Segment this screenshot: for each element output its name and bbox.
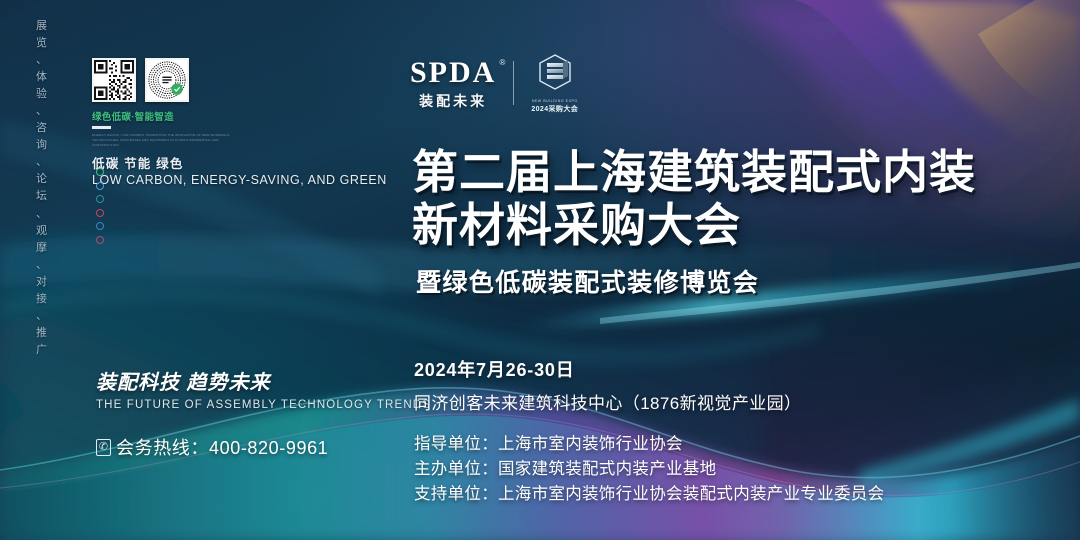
logo-bar: SPDA ® 装配未来 NEW BU [410, 52, 578, 114]
dot-red [96, 209, 104, 217]
qr-code-left[interactable] [92, 58, 136, 102]
slogan-english: THE FUTURE OF ASSEMBLY TECHNOLOGY TRENDS [96, 399, 431, 411]
organizers-block: 指导单位：上海市室内装饰行业协会主办单位：国家建筑装配式内装产业基地支持单位：上… [414, 432, 884, 507]
nbe-logo: NEW BUILDING EXPO 2024采购大会 [531, 52, 578, 114]
nbe-cube-icon [535, 52, 575, 92]
qr-code-right[interactable] [145, 58, 189, 102]
vertical-rail-char-2: 、 [36, 52, 48, 69]
qr-code-row [92, 58, 387, 102]
logo-divider [513, 61, 514, 105]
vertical-rail-char-13: 摩 [36, 240, 48, 257]
vertical-keywords-rail: 展览、体验、咨询、论坛、观摩、对接、推广 [30, 18, 54, 268]
dot-teal [96, 195, 104, 203]
vertical-rail-char-12: 观 [36, 223, 48, 240]
micro-description-text: ENERGY-SAVING, LOW-CARBON, PROMOTING THE… [92, 133, 242, 148]
vertical-rail-char-18: 推 [36, 325, 48, 342]
vertical-rail-char-7: 询 [36, 137, 48, 154]
organizer-line-1: 指导单位：上海市室内装饰行业协会 [414, 432, 884, 457]
vertical-rail-char-5: 、 [36, 103, 48, 120]
phone-icon: ✆ [96, 439, 111, 456]
dot-cyan [96, 222, 104, 230]
organizer-line-3: 支持单位：上海市室内装饰行业协会装配式内装产业专业委员会 [414, 482, 884, 507]
qr-info-block: 绿色低碳·智能智造 ENERGY-SAVING, LOW-CARBON, PRO… [92, 58, 387, 187]
hotline-text: 会务热线：400-820-9961 [116, 434, 328, 460]
vertical-rail-char-4: 验 [36, 86, 48, 103]
dot-blue [96, 182, 104, 190]
vertical-rail-char-16: 接 [36, 291, 48, 308]
vertical-rail-char-15: 对 [36, 274, 48, 291]
vertical-rail-char-10: 坛 [36, 188, 48, 205]
vertical-rail-char-9: 论 [36, 171, 48, 188]
promo-banner: 展览、体验、咨询、论坛、观摩、对接、推广 [0, 0, 1080, 540]
vertical-rail-char-17: 、 [36, 308, 48, 325]
date-venue-block: 2024年7月26-30日 同济创客未来建筑科技中心（1876新视觉产业园） [414, 356, 801, 414]
vertical-rail-char-8: 、 [36, 154, 48, 171]
registered-mark-icon: ® [499, 58, 505, 67]
low-carbon-cn: 低碳 节能 绿色 [92, 153, 387, 172]
headline-line-1: 第二届上海建筑装配式内装 [412, 146, 976, 199]
vertical-rail-char-11: 、 [36, 206, 48, 223]
vertical-rail-char-1: 览 [36, 35, 48, 52]
spda-chinese-name: 装配未来 [410, 91, 496, 111]
slogan-block: 装配科技 趋势未来 THE FUTURE OF ASSEMBLY TECHNOL… [96, 366, 431, 411]
organizer-line-2: 主办单位：国家建筑装配式内装产业基地 [414, 457, 884, 482]
slogan-chinese: 装配科技 趋势未来 [96, 366, 431, 395]
headline-line-2: 新材料采购大会 [412, 199, 976, 252]
event-venue: 同济创客未来建筑科技中心（1876新视觉产业园） [414, 389, 801, 414]
spda-wordmark: SPDA [410, 56, 496, 90]
spda-logo: SPDA ® 装配未来 [410, 56, 496, 111]
event-date: 2024年7月26-30日 [414, 356, 801, 382]
vertical-rail-char-19: 广 [36, 342, 48, 359]
low-carbon-en: LOW CARBON, ENERGY-SAVING, AND GREEN [92, 173, 387, 187]
vertical-rail-char-14: 、 [36, 257, 48, 274]
nbe-english-name: NEW BUILDING EXPO [531, 99, 578, 103]
vertical-rail-char-0: 展 [36, 18, 48, 35]
hotline-block[interactable]: ✆ 会务热线：400-820-9961 [96, 434, 328, 460]
vertical-rail-char-6: 咨 [36, 120, 48, 137]
dot-green [96, 168, 104, 176]
tagline-rule [92, 126, 111, 129]
headline-subtitle: 暨绿色低碳装配式装修博览会 [416, 263, 976, 299]
nbe-chinese-name: 2024采购大会 [531, 104, 578, 114]
dot-pink [96, 236, 104, 244]
headline-block: 第二届上海建筑装配式内装 新材料采购大会 暨绿色低碳装配式装修博览会 [412, 146, 976, 299]
vertical-rail-char-3: 体 [36, 69, 48, 86]
decorative-dot-column [96, 168, 104, 244]
green-tagline: 绿色低碳·智能智造 [92, 109, 387, 123]
